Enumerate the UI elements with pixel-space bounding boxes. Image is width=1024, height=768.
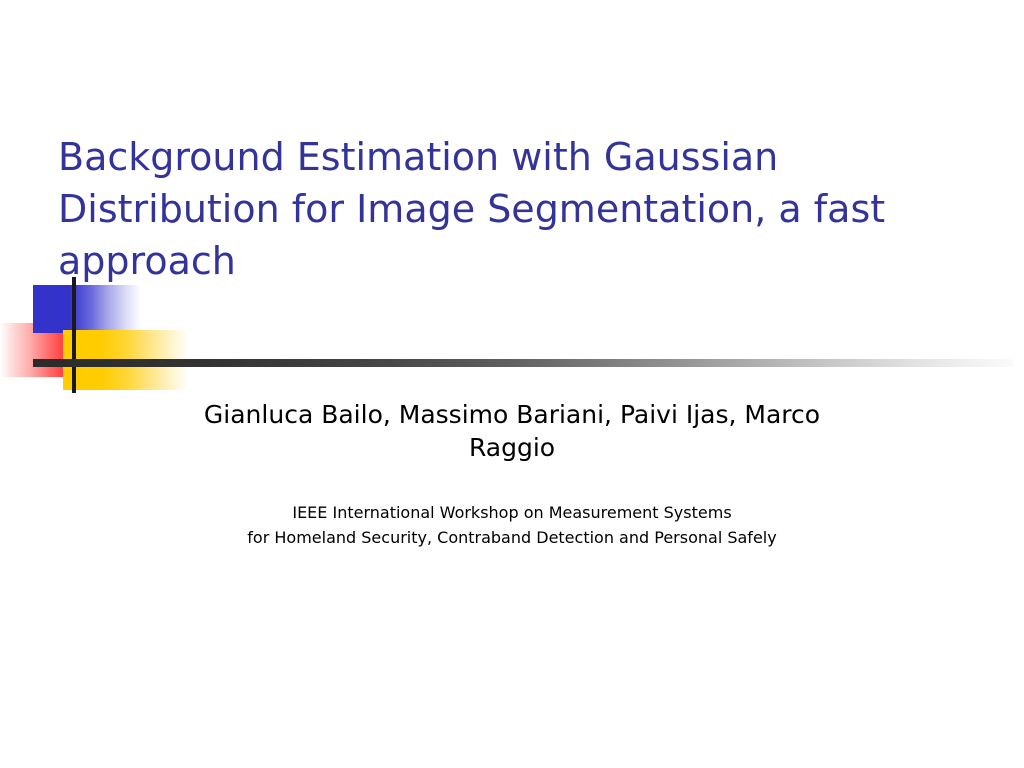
presentation-slide: Background Estimation with Gaussian Dist…: [0, 0, 1024, 768]
decoration-vertical-rule: [72, 277, 76, 393]
venue-line-2: for Homeland Security, Contraband Detect…: [162, 525, 862, 550]
decoration-horizontal-gradient-rule: [33, 359, 1013, 367]
subtitle-placeholder: Gianluca Bailo, Massimo Bariani, Paivi I…: [162, 398, 862, 550]
venue-block: IEEE International Workshop on Measureme…: [162, 464, 862, 550]
title-placeholder: Background Estimation with Gaussian Dist…: [58, 131, 958, 287]
venue-line-1: IEEE International Workshop on Measureme…: [162, 500, 862, 525]
decoration-blue-gradient-block: [33, 285, 141, 333]
author-list: Gianluca Bailo, Massimo Bariani, Paivi I…: [162, 398, 862, 464]
slide-title: Background Estimation with Gaussian Dist…: [58, 131, 958, 287]
